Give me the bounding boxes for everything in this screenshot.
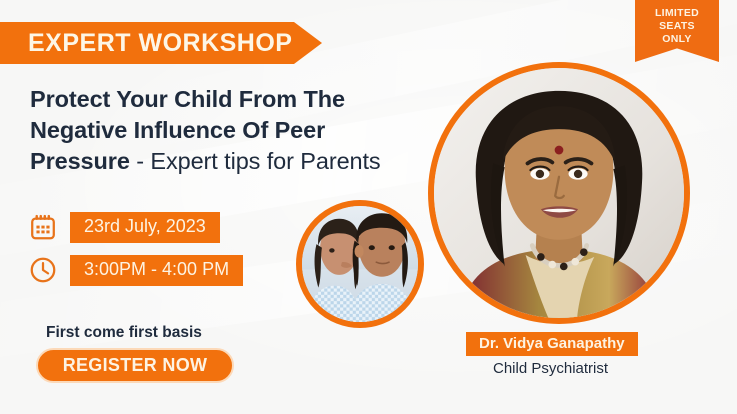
event-date-value: 23rd July, 2023 [70,212,220,243]
kids-photo-illustration [302,206,418,322]
speaker-photo-illustration [434,68,684,318]
two-children-whispering-photo [296,200,424,328]
page-title: Protect Your Child From The Negative Inf… [30,84,390,177]
speaker-name: Dr. Vidya Ganapathy [466,332,638,356]
badge-line-3: ONLY [662,33,691,46]
badge-line-1: LIMITED [655,7,699,20]
calendar-icon [28,212,58,242]
speaker-role: Child Psychiatrist [493,360,608,377]
ribbon-label: EXPERT WORKSHOP [28,29,292,58]
speaker-portrait-photo [428,62,690,324]
headline-regular-text: - Expert tips for Parents [130,148,381,174]
event-date-row: 23rd July, 2023 [28,212,220,243]
cta-note: First come first basis [46,324,202,342]
event-time-row: 3:00PM - 4:00 PM [28,255,243,286]
event-time-value: 3:00PM - 4:00 PM [70,255,243,286]
limited-seats-badge: LIMITED SEATS ONLY [635,0,719,62]
register-now-button[interactable]: REGISTER NOW [36,348,234,383]
webinar-promo-banner: EXPERT WORKSHOP LIMITED SEATS ONLY Prote… [0,0,737,414]
clock-icon [28,255,58,285]
badge-line-2: SEATS [659,20,695,33]
expert-workshop-ribbon: EXPERT WORKSHOP [0,22,322,64]
